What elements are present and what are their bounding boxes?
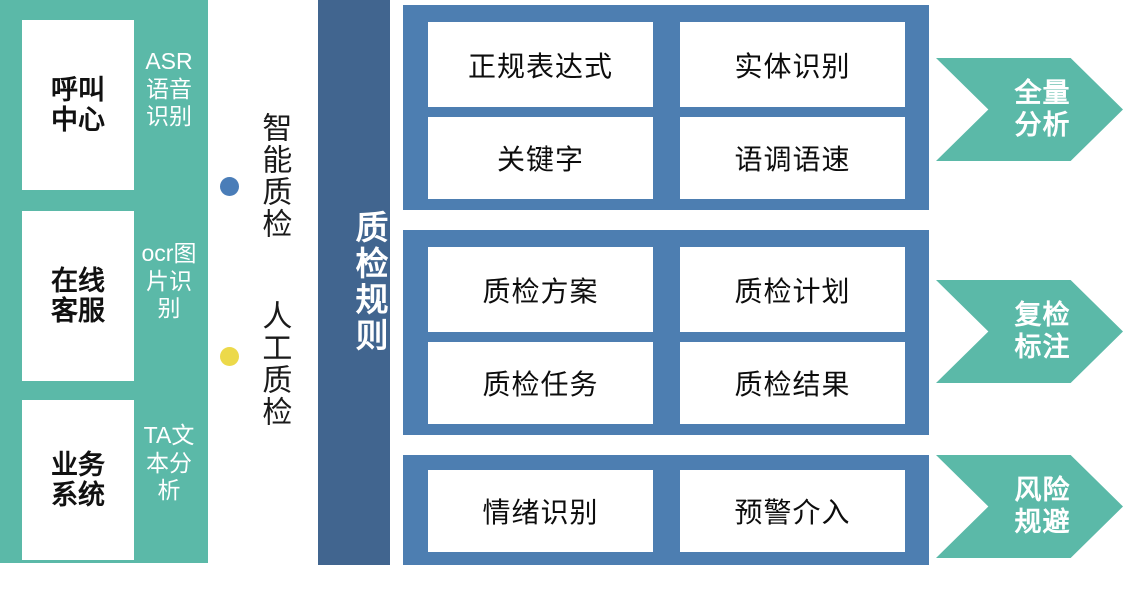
- rule-cell[interactable]: 情绪识别: [428, 470, 653, 552]
- rule-cell[interactable]: 质检任务: [428, 342, 653, 424]
- outcome-chevron-label: 全量分析: [1013, 78, 1073, 142]
- rule-group-panel-3: 情绪识别 预警介入: [403, 455, 929, 565]
- rule-cell[interactable]: 质检计划: [680, 247, 905, 332]
- rule-group-panel-2: 质检方案 质检计划 质检任务 质检结果: [403, 230, 929, 435]
- rule-cell-label: 关键字: [497, 138, 584, 178]
- diagram-canvas: 呼叫中心 ASR语音识别 在线客服 ocr图片识别 业务系统 TA文本分析 智能…: [0, 0, 1129, 603]
- rule-cell-label: 质检结果: [734, 363, 850, 403]
- rule-cell[interactable]: 质检方案: [428, 247, 653, 332]
- outcome-chevron-recheck-annotation[interactable]: 复检标注: [936, 280, 1123, 383]
- source-box-label: 在线客服: [50, 266, 106, 326]
- bullet-dot-yellow-icon: [220, 347, 239, 366]
- rule-cell[interactable]: 语调语速: [680, 117, 905, 199]
- source-box-online-service[interactable]: 在线客服: [22, 211, 134, 381]
- mode-label-manual: 人工质检: [256, 300, 291, 428]
- source-box-label: 业务系统: [50, 450, 106, 510]
- rule-cell-label: 情绪识别: [482, 491, 598, 531]
- bullet-dot-blue-icon: [220, 177, 239, 196]
- outcome-chevron-label: 风险规避: [1013, 475, 1073, 539]
- outcome-chevron-full-analysis[interactable]: 全量分析: [936, 58, 1123, 161]
- rule-group-panel-1: 正规表达式 实体识别 关键字 语调语速: [403, 5, 929, 210]
- data-source-panel: 呼叫中心 ASR语音识别 在线客服 ocr图片识别 业务系统 TA文本分析: [0, 0, 208, 563]
- inspection-mode-column: 智能质检 人工质检: [208, 0, 316, 603]
- rule-cell-label: 质检任务: [482, 363, 598, 403]
- outcome-chevron-label: 复检标注: [1013, 300, 1073, 364]
- source-tag-ta: TA文本分析: [138, 422, 200, 505]
- rule-cell[interactable]: 实体识别: [680, 22, 905, 107]
- source-box-call-center[interactable]: 呼叫中心: [22, 20, 134, 190]
- rule-cell-label: 语调语速: [734, 138, 850, 178]
- rule-cell-label: 质检计划: [734, 270, 850, 310]
- source-box-label: 呼叫中心: [50, 75, 106, 135]
- mode-label-intelligent: 智能质检: [256, 112, 291, 240]
- rule-cell[interactable]: 关键字: [428, 117, 653, 199]
- rule-cell-label: 预警介入: [734, 491, 850, 531]
- quality-rule-bar: 质检规则: [318, 0, 390, 565]
- rule-cell[interactable]: 预警介入: [680, 470, 905, 552]
- quality-rule-bar-label: 质检规则: [318, 182, 390, 382]
- source-tag-ocr: ocr图片识别: [138, 240, 200, 323]
- outcome-chevron-risk-avoidance[interactable]: 风险规避: [936, 455, 1123, 558]
- rule-cell[interactable]: 质检结果: [680, 342, 905, 424]
- rule-cell-label: 正规表达式: [468, 45, 613, 85]
- rule-cell-label: 实体识别: [734, 45, 850, 85]
- rule-cell[interactable]: 正规表达式: [428, 22, 653, 107]
- source-tag-asr: ASR语音识别: [138, 48, 200, 131]
- rule-cell-label: 质检方案: [482, 270, 598, 310]
- source-box-business-system[interactable]: 业务系统: [22, 400, 134, 560]
